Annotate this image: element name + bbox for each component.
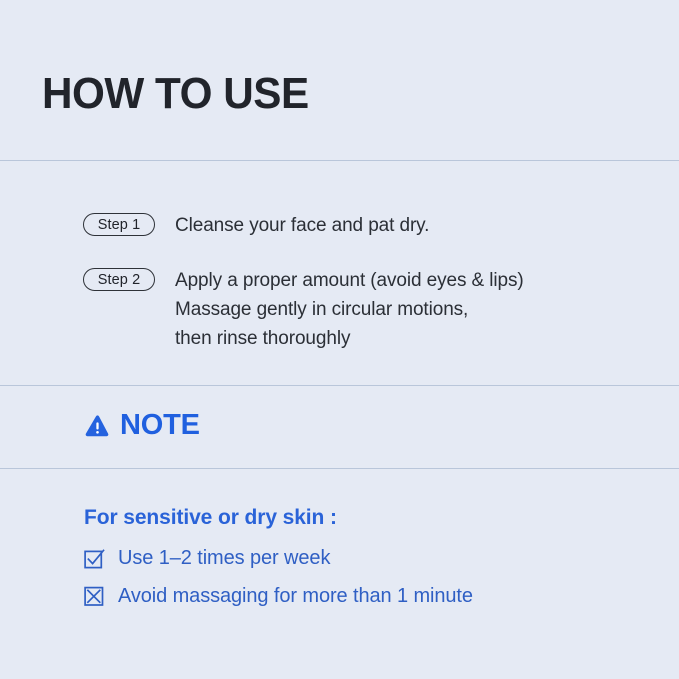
page-title: HOW TO USE bbox=[42, 68, 309, 120]
note-header: NOTE bbox=[84, 410, 200, 440]
checked-box-icon bbox=[84, 548, 105, 569]
list-item: Step 2 Apply a proper amount (avoid eyes… bbox=[83, 266, 643, 353]
steps-list: Step 1 Cleanse your face and pat dry. St… bbox=[83, 211, 643, 353]
divider-middle bbox=[0, 385, 679, 386]
note-label: NOTE bbox=[120, 410, 200, 440]
list-item: Avoid massaging for more than 1 minute bbox=[84, 582, 644, 610]
step-text-2: Apply a proper amount (avoid eyes & lips… bbox=[175, 266, 524, 353]
step-text-1: Cleanse your face and pat dry. bbox=[175, 211, 429, 240]
step-text-line: Cleanse your face and pat dry. bbox=[175, 211, 429, 240]
warning-triangle-icon bbox=[84, 413, 111, 440]
how-to-use-card: HOW TO USE Step 1 Cleanse your face and … bbox=[0, 0, 679, 679]
divider-top bbox=[0, 160, 679, 161]
x-box-icon bbox=[84, 586, 105, 607]
list-item: Step 1 Cleanse your face and pat dry. bbox=[83, 211, 643, 240]
step-badge-2: Step 2 bbox=[83, 268, 155, 291]
sensitive-item-text: Avoid massaging for more than 1 minute bbox=[118, 582, 473, 610]
sensitive-skin-list: Use 1–2 times per week Avoid massaging f… bbox=[84, 544, 644, 610]
sensitive-item-text: Use 1–2 times per week bbox=[118, 544, 330, 572]
step-badge-1: Step 1 bbox=[83, 213, 155, 236]
step-text-line: then rinse thoroughly bbox=[175, 324, 524, 353]
step-text-line: Massage gently in circular motions, bbox=[175, 295, 524, 324]
divider-bottom bbox=[0, 468, 679, 469]
step-text-line: Apply a proper amount (avoid eyes & lips… bbox=[175, 266, 524, 295]
sensitive-skin-title: For sensitive or dry skin : bbox=[84, 505, 337, 531]
list-item: Use 1–2 times per week bbox=[84, 544, 644, 572]
